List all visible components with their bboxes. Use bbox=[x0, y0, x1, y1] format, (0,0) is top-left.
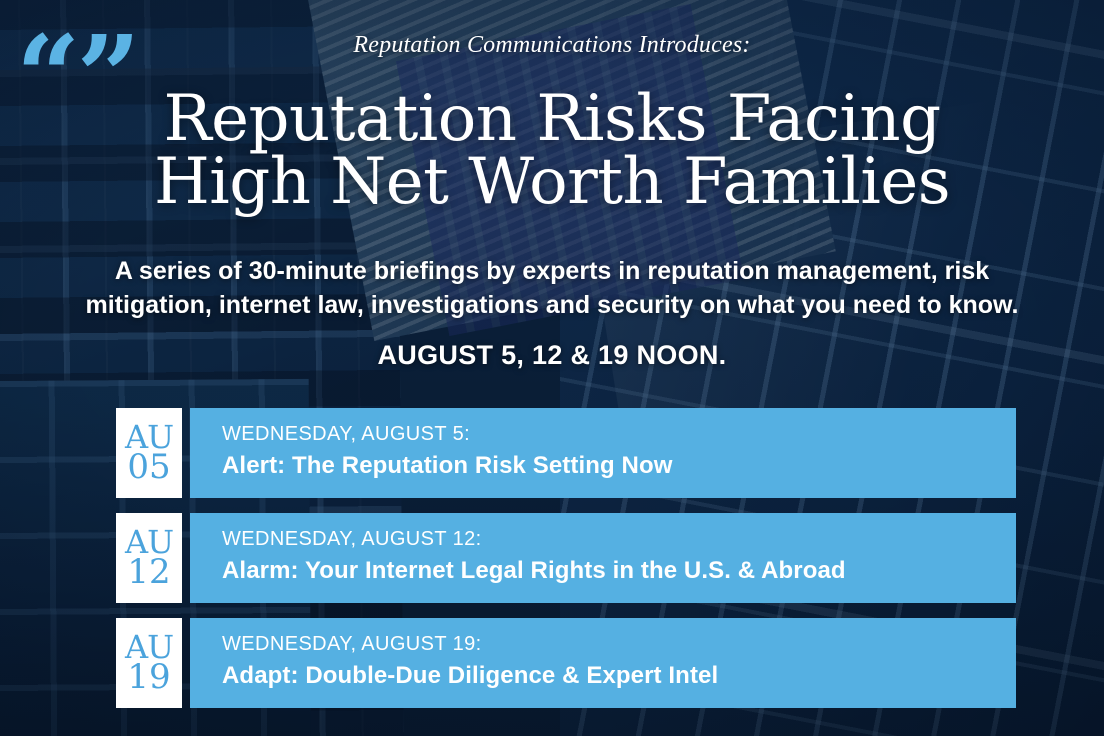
description-text: A series of 30-minute briefings by exper… bbox=[62, 255, 1042, 322]
event-banner[interactable]: WEDNESDAY, AUGUST 5: Alert: The Reputati… bbox=[190, 408, 1016, 498]
event-when: WEDNESDAY, AUGUST 5: bbox=[222, 422, 1016, 447]
kicker-text: Reputation Communications Introduces: bbox=[0, 32, 1104, 59]
page-title: Reputation Risks Facing High Net Worth F… bbox=[0, 88, 1104, 215]
event-banner[interactable]: WEDNESDAY, AUGUST 12: Alarm: Your Intern… bbox=[190, 513, 1016, 603]
promotional-poster: “” Reputation Communications Introduces:… bbox=[0, 0, 1104, 736]
date-badge: AU 05 bbox=[116, 408, 182, 498]
poster-content: “” Reputation Communications Introduces:… bbox=[0, 0, 1104, 736]
date-badge: AU 12 bbox=[116, 513, 182, 603]
event-title: Adapt: Double-Due Diligence & Expert Int… bbox=[222, 662, 1016, 691]
event-title: Alert: The Reputation Risk Setting Now bbox=[222, 452, 1016, 481]
event-list: AU 05 WEDNESDAY, AUGUST 5: Alert: The Re… bbox=[116, 408, 1016, 723]
date-badge-day: 19 bbox=[127, 662, 170, 693]
dateline-text: AUGUST 5, 12 & 19 NOON. bbox=[0, 340, 1104, 371]
event-when: WEDNESDAY, AUGUST 12: bbox=[222, 527, 1016, 552]
date-badge: AU 19 bbox=[116, 618, 182, 708]
event-banner[interactable]: WEDNESDAY, AUGUST 19: Adapt: Double-Due … bbox=[190, 618, 1016, 708]
event-title: Alarm: Your Internet Legal Rights in the… bbox=[222, 557, 1016, 586]
list-item[interactable]: AU 05 WEDNESDAY, AUGUST 5: Alert: The Re… bbox=[116, 408, 1016, 498]
list-item[interactable]: AU 19 WEDNESDAY, AUGUST 19: Adapt: Doubl… bbox=[116, 618, 1016, 708]
date-badge-day: 12 bbox=[127, 557, 170, 588]
date-badge-day: 05 bbox=[127, 452, 170, 483]
event-when: WEDNESDAY, AUGUST 19: bbox=[222, 632, 1016, 657]
list-item[interactable]: AU 12 WEDNESDAY, AUGUST 12: Alarm: Your … bbox=[116, 513, 1016, 603]
headline-line-2: High Net Worth Families bbox=[0, 151, 1104, 214]
